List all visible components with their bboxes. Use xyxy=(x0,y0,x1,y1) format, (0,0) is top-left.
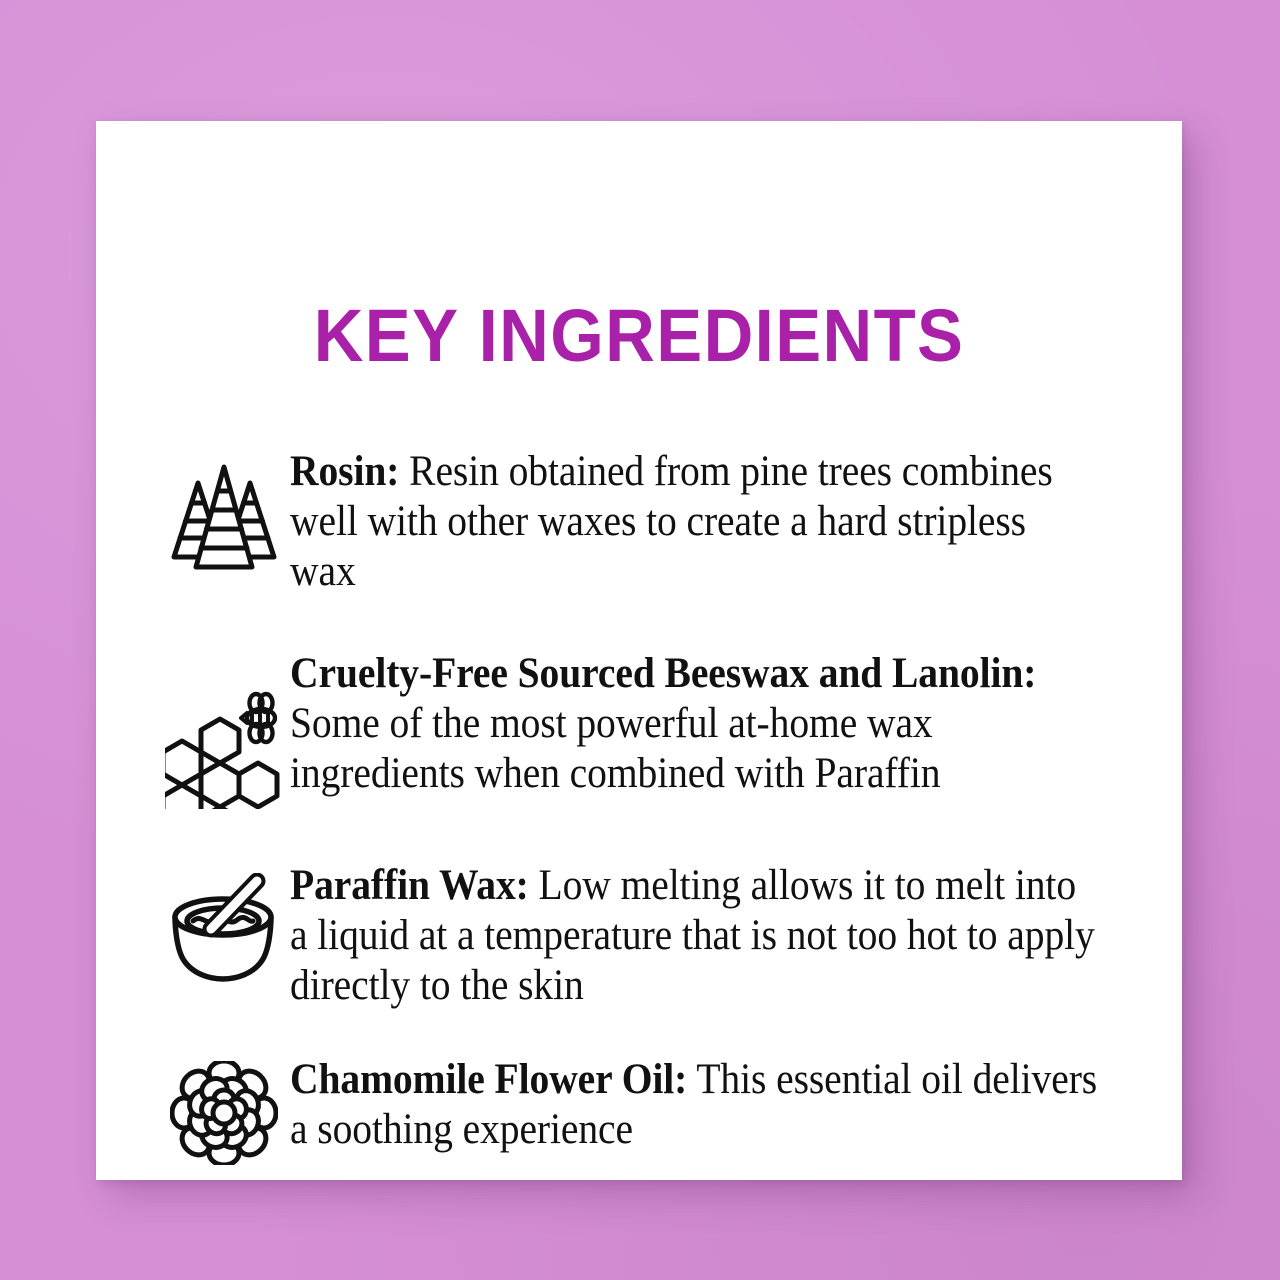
list-item-text: Chamomile Flower Oil: This essential oil… xyxy=(290,1055,1098,1155)
honeycomb-bee-icon xyxy=(158,649,290,809)
ingredient-list: Rosin: Resin obtained from pine trees co… xyxy=(96,447,1182,1165)
ingredient-name: Cruelty-Free Sourced Beeswax and Lanolin… xyxy=(290,650,1036,697)
list-item-text: Paraffin Wax: Low melting allows it to m… xyxy=(290,861,1098,1011)
ingredient-name: Rosin: xyxy=(290,448,399,495)
pine-trees-icon xyxy=(158,447,290,573)
list-item-text: Rosin: Resin obtained from pine trees co… xyxy=(290,447,1098,597)
list-item: Chamomile Flower Oil: This essential oil… xyxy=(96,1055,1182,1165)
ingredient-description: Some of the most powerful at-home wax in… xyxy=(290,700,940,797)
product-infographic: KEY INGREDIENTS xyxy=(0,0,1280,1280)
info-card: KEY INGREDIENTS xyxy=(96,121,1182,1180)
ingredient-name: Chamomile Flower Oil: xyxy=(290,1056,687,1103)
mortar-pestle-bowl-icon xyxy=(158,861,290,985)
chamomile-flower-icon xyxy=(158,1055,290,1165)
ingredient-description: Resin obtained from pine trees combines … xyxy=(290,448,1053,595)
list-item: Paraffin Wax: Low melting allows it to m… xyxy=(96,861,1182,1011)
list-item: Rosin: Resin obtained from pine trees co… xyxy=(96,447,1182,597)
list-item-text: Cruelty-Free Sourced Beeswax and Lanolin… xyxy=(290,649,1098,799)
list-item: Cruelty-Free Sourced Beeswax and Lanolin… xyxy=(96,649,1182,809)
ingredient-name: Paraffin Wax: xyxy=(290,862,529,909)
page-title: KEY INGREDIENTS xyxy=(134,299,1144,373)
